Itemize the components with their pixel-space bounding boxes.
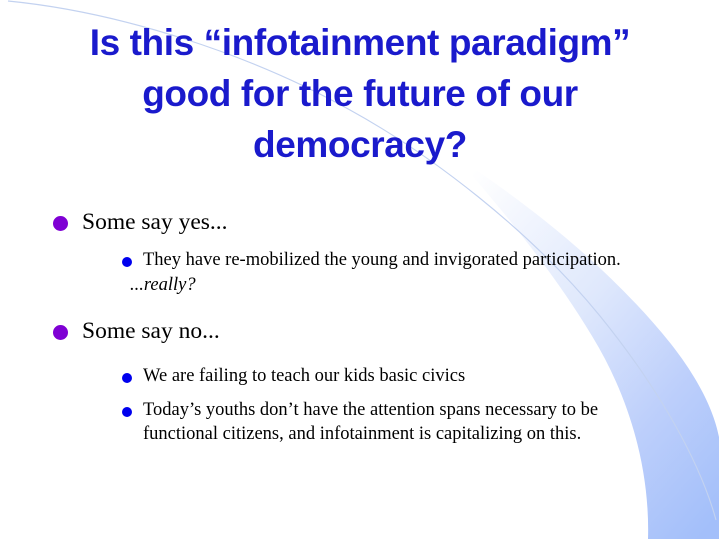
presentation-slide: Is this “infotainment paradigm” good for… <box>0 0 719 539</box>
bullet-level2: Today’s youths don’t have the attention … <box>0 398 700 447</box>
bullet-level2-label: We are failing to teach our kids basic c… <box>143 366 465 386</box>
aside-note: ...really? <box>0 273 700 298</box>
bullet-marker-icon <box>53 216 68 231</box>
bullet-level2: They have re-mobilized the young and inv… <box>0 248 700 273</box>
spacer <box>0 352 700 364</box>
slide-body: Some say yes... They have re-mobilized t… <box>0 206 700 447</box>
title-line-3: democracy? <box>36 119 684 170</box>
bullet-marker-icon <box>53 325 68 340</box>
bullet-level1: Some say yes... <box>0 206 700 239</box>
bullet-level1-label: Some say yes... <box>82 209 228 235</box>
bullet-level1: Some say no... <box>0 315 700 348</box>
bullet-level1-label: Some say no... <box>82 318 220 344</box>
bullet-level2: We are failing to teach our kids basic c… <box>0 364 700 389</box>
title-line-2: good for the future of our <box>36 68 684 119</box>
bullet-level2-label: They have re-mobilized the young and inv… <box>143 250 621 270</box>
spacer <box>0 297 700 315</box>
bullet-level2-label: Today’s youths don’t have the attention … <box>143 400 598 445</box>
title-line-1: Is this “infotainment paradigm” <box>36 17 684 68</box>
sub-bullet-marker-icon <box>122 257 132 267</box>
slide-title: Is this “infotainment paradigm” good for… <box>36 17 684 170</box>
sub-bullet-marker-icon <box>122 373 132 383</box>
sub-bullet-marker-icon <box>122 407 132 417</box>
